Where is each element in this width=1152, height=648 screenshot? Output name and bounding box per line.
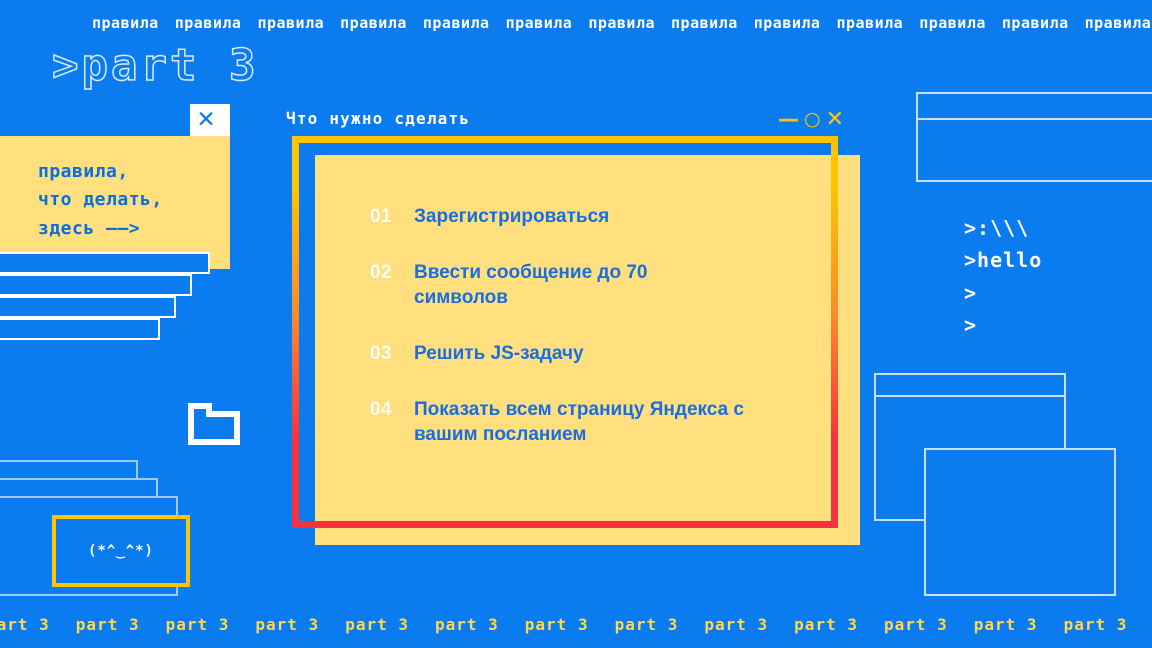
ticker-word: part 3 (166, 615, 230, 634)
ticker-word: правила (340, 14, 407, 32)
list-item: 04 Показать всем страницу Яндекса с ваши… (370, 397, 770, 448)
kaomoji-text: (*^‿^*) (88, 543, 154, 559)
slide-canvas: правилаправилаправилаправилаправилаправи… (0, 0, 1152, 648)
terminal-output: >:\\\ >hello > > (964, 212, 1042, 342)
tooltip-line: здесь ——> (38, 215, 214, 243)
stacked-window-bar (0, 318, 160, 340)
stacked-window-bar (0, 296, 176, 318)
top-ticker: правилаправилаправилаправилаправилаправи… (0, 12, 1152, 34)
terminal-line: > (964, 277, 1042, 309)
task-label: Показать всем страницу Яндекса с вашим п… (414, 397, 744, 448)
ticker-word: part 3 (794, 615, 858, 634)
ticker-word: part 3 (345, 615, 409, 634)
ticker-word: part 3 (435, 615, 499, 634)
task-titlebar: Что нужно сделать — ○ ✕ (284, 104, 860, 136)
task-number: 02 (370, 260, 414, 286)
list-item: 03 Решить JS-задачу (370, 341, 770, 367)
task-label: Решить JS-задачу (414, 341, 584, 367)
ticker-word: правила (919, 14, 986, 32)
minimize-icon[interactable]: — (778, 113, 799, 125)
task-number: 01 (370, 204, 414, 230)
tooltip-titlebar: ✕ (0, 104, 230, 136)
ticker-word: правила (754, 14, 821, 32)
ticker-word: правила (506, 14, 573, 32)
ticker-word: правила (836, 14, 903, 32)
decor-window-top-right (916, 92, 1152, 182)
ticker-word: правила (671, 14, 738, 32)
tooltip-line: что делать, (38, 186, 214, 214)
folder-icon (188, 403, 240, 445)
task-list: 01 Зарегистрироваться 02 Ввести сообщени… (370, 204, 770, 478)
tooltip-titlebar-fill (0, 104, 190, 136)
decor-titlebar (876, 375, 1064, 397)
task-window: Что нужно сделать — ○ ✕ 01 Зарегистриров… (284, 104, 860, 136)
task-window-title: Что нужно сделать (286, 104, 470, 134)
ticker-word: правила (257, 14, 324, 32)
ticker-word: правила (175, 14, 242, 32)
ticker-word: правила (1085, 14, 1152, 32)
window-controls: — ○ ✕ (778, 104, 844, 134)
ticker-word: part 3 (884, 615, 948, 634)
tooltip-body: правила, что делать, здесь ——> (0, 136, 230, 269)
task-label: Ввести сообщение до 70 символов (414, 260, 744, 311)
terminal-line: >:\\\ (964, 212, 1042, 244)
decor-titlebar (918, 94, 1152, 120)
stacked-window-bar (0, 252, 210, 274)
ticker-word: part 3 (0, 615, 50, 634)
close-icon[interactable]: ✕ (188, 104, 224, 136)
task-label: Зарегистрироваться (414, 204, 609, 230)
close-icon[interactable]: ✕ (826, 107, 844, 132)
ticker-word: part 3 (974, 615, 1038, 634)
ticker-word: part 3 (76, 615, 140, 634)
task-number: 03 (370, 341, 414, 367)
list-item: 02 Ввести сообщение до 70 символов (370, 260, 770, 311)
page-title: >part 3 (52, 44, 258, 88)
ticker-word: part 3 (525, 615, 589, 634)
list-item: 01 Зарегистрироваться (370, 204, 770, 230)
ticker-word: part 3 (255, 615, 319, 634)
terminal-line: > (964, 309, 1042, 341)
rules-tooltip-window: ✕ правила, что делать, здесь ——> (0, 104, 230, 269)
tooltip-line: правила, (38, 158, 214, 186)
kaomoji-window: (*^‿^*) (52, 515, 190, 587)
terminal-line: >hello (964, 244, 1042, 276)
ticker-word: part 3 (704, 615, 768, 634)
ticker-word: part 3 (1064, 615, 1128, 634)
ticker-word: правила (423, 14, 490, 32)
ticker-word: правила (588, 14, 655, 32)
task-number: 04 (370, 397, 414, 423)
bottom-ticker: part 3part 3part 3part 3part 3part 3part… (0, 612, 1152, 638)
stacked-window-bar (0, 274, 192, 296)
maximize-icon[interactable]: ○ (804, 108, 821, 130)
decor-window-low-right (924, 448, 1116, 596)
ticker-word: part 3 (615, 615, 679, 634)
ticker-word: правила (92, 14, 159, 32)
ticker-word: правила (1002, 14, 1069, 32)
